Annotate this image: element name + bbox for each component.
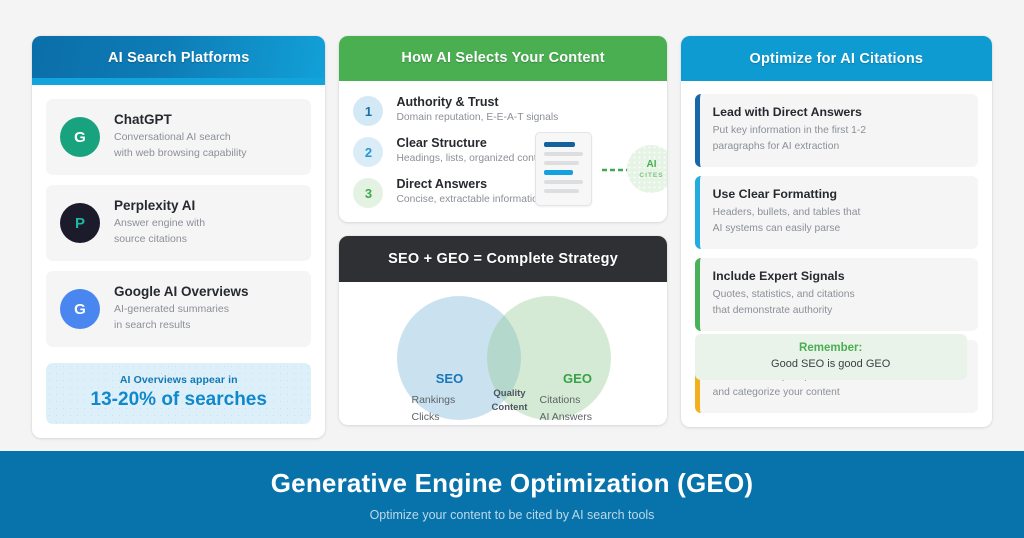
perplexity-name: Perplexity AI bbox=[114, 198, 205, 213]
google-avatar: G bbox=[60, 289, 100, 329]
list-item-step-1: 1 Authority & Trust Domain reputation, E… bbox=[353, 94, 652, 126]
tip-3-desc-line1: Quotes, statistics, and citations bbox=[713, 287, 965, 303]
venn-center-line1: Quality bbox=[479, 387, 539, 401]
venn-intersection-label: Quality Content bbox=[479, 387, 539, 415]
venn-geo-item-1: Citations bbox=[539, 392, 592, 409]
venn-diagram-container: SEO Rankings Clicks Traffic GEO Citation… bbox=[339, 282, 666, 425]
banner-subtitle: Optimize your content to be cited by AI … bbox=[370, 508, 655, 522]
step-3-desc: Concise, extractable information bbox=[396, 194, 543, 205]
panel-header-optimize-for-ai-citations: Optimize for AI Citations bbox=[681, 36, 992, 81]
column-how-ai-selects: How AI Selects Your Content 1 Authority … bbox=[339, 36, 666, 451]
chatgpt-avatar: G bbox=[60, 117, 100, 157]
venn-geo-item-2: AI Answers bbox=[539, 409, 592, 425]
steps-container: 1 Authority & Trust Domain reputation, E… bbox=[339, 81, 666, 222]
panel-how-ai-selects-content: How AI Selects Your Content 1 Authority … bbox=[339, 36, 666, 222]
tip-1-title: Lead with Direct Answers bbox=[713, 105, 965, 119]
tip-1-desc-line1: Put key information in the first 1-2 bbox=[713, 123, 965, 139]
tip-3-title: Include Expert Signals bbox=[713, 269, 965, 283]
panel-optimize-for-ai-citations: Optimize for AI Citations Lead with Dire… bbox=[681, 36, 992, 427]
venn-label-seo: SEO bbox=[409, 371, 489, 386]
google-name: Google AI Overviews bbox=[114, 284, 249, 299]
list-item-tip-clear-formatting[interactable]: Use Clear Formatting Headers, bullets, a… bbox=[695, 176, 978, 249]
chatgpt-name: ChatGPT bbox=[114, 112, 246, 127]
infographic-canvas: AI Search Platforms G ChatGPT Conversati… bbox=[0, 0, 1024, 538]
perplexity-desc-line1: Answer engine with bbox=[114, 216, 205, 232]
google-desc-line1: AI-generated summaries bbox=[114, 302, 249, 318]
stat-value: 13-20% of searches bbox=[56, 389, 301, 411]
list-item-chatgpt[interactable]: G ChatGPT Conversational AI search with … bbox=[46, 99, 311, 175]
venn-list-seo: Rankings Clicks Traffic bbox=[411, 392, 455, 425]
step-3-body: Direct Answers Concise, extractable info… bbox=[396, 176, 543, 205]
tip-2-desc-line1: Headers, bullets, and tables that bbox=[713, 205, 965, 221]
step-3-title: Direct Answers bbox=[396, 177, 543, 191]
venn-seo-item-1: Rankings bbox=[411, 392, 455, 409]
step-2-body: Clear Structure Headings, lists, organiz… bbox=[396, 135, 551, 164]
badge-ai-cites: AI CITES bbox=[627, 145, 666, 193]
chatgpt-text: ChatGPT Conversational AI search with we… bbox=[114, 112, 246, 162]
perplexity-desc-line2: source citations bbox=[114, 232, 205, 248]
step-1-body: Authority & Trust Domain reputation, E-E… bbox=[396, 94, 558, 123]
doc-gray-line-1 bbox=[544, 152, 583, 156]
step-2-number: 2 bbox=[353, 137, 383, 167]
bottom-banner: Generative Engine Optimization (GEO) Opt… bbox=[0, 451, 1024, 538]
badge-ai-cites-line2: CITES bbox=[639, 172, 663, 179]
doc-gray-line-2 bbox=[544, 161, 578, 165]
panel-header-ai-search-platforms: AI Search Platforms bbox=[32, 36, 325, 85]
chatgpt-desc-line2: with web browsing capability bbox=[114, 146, 246, 162]
list-item-tip-direct-answers[interactable]: Lead with Direct Answers Put key informa… bbox=[695, 94, 978, 167]
step-1-number: 1 bbox=[353, 96, 383, 126]
callout-remember-label: Remember: bbox=[705, 342, 957, 354]
perplexity-text: Perplexity AI Answer engine with source … bbox=[114, 198, 205, 248]
step-2-title: Clear Structure bbox=[396, 136, 551, 150]
venn-diagram: SEO Rankings Clicks Traffic GEO Citation… bbox=[339, 282, 666, 425]
tip-4-desc-line2: and categorize your content bbox=[713, 385, 965, 401]
column-optimize-for-citations: Optimize for AI Citations Lead with Dire… bbox=[681, 36, 992, 451]
stat-ai-overviews-share: AI Overviews appear in 13-20% of searche… bbox=[46, 363, 311, 424]
platform-list: G ChatGPT Conversational AI search with … bbox=[32, 85, 325, 361]
google-desc-line2: in search results bbox=[114, 318, 249, 334]
step-2-desc: Headings, lists, organized content bbox=[396, 153, 551, 164]
list-item-step-3: 3 Direct Answers Concise, extractable in… bbox=[353, 176, 652, 208]
list-item-perplexity[interactable]: P Perplexity AI Answer engine with sourc… bbox=[46, 185, 311, 261]
tip-2-desc-line2: AI systems can easily parse bbox=[713, 221, 965, 237]
doc-accent-line bbox=[544, 170, 572, 175]
tip-3-desc-line2: that demonstrate authority bbox=[713, 303, 965, 319]
panel-header-seo-geo-strategy: SEO + GEO = Complete Strategy bbox=[339, 236, 666, 282]
callout-remember-text: Good SEO is good GEO bbox=[705, 358, 957, 370]
venn-center-line2: Content bbox=[479, 401, 539, 415]
list-item-tip-expert-signals[interactable]: Include Expert Signals Quotes, statistic… bbox=[695, 258, 978, 331]
chatgpt-desc-line1: Conversational AI search bbox=[114, 130, 246, 146]
columns-container: AI Search Platforms G ChatGPT Conversati… bbox=[0, 0, 1024, 451]
google-text: Google AI Overviews AI-generated summari… bbox=[114, 284, 249, 334]
step-1-desc: Domain reputation, E-E-A-T signals bbox=[396, 112, 558, 123]
tips-list: Lead with Direct Answers Put key informa… bbox=[681, 81, 992, 427]
callout-remember: Remember: Good SEO is good GEO bbox=[695, 334, 967, 380]
panel-seo-geo-strategy: SEO + GEO = Complete Strategy SEO Rankin… bbox=[339, 236, 666, 425]
banner-title: Generative Engine Optimization (GEO) bbox=[271, 468, 754, 499]
step-3-number: 3 bbox=[353, 178, 383, 208]
venn-list-geo: Citations AI Answers Visibility bbox=[539, 392, 592, 425]
doc-gray-line-4 bbox=[544, 189, 578, 193]
column-ai-search-platforms: AI Search Platforms G ChatGPT Conversati… bbox=[32, 36, 325, 451]
badge-ai-cites-line1: AI bbox=[646, 159, 656, 170]
doc-gray-line-3 bbox=[544, 180, 583, 184]
venn-label-geo: GEO bbox=[537, 371, 617, 386]
panel-ai-search-platforms: AI Search Platforms G ChatGPT Conversati… bbox=[32, 36, 325, 438]
list-item-google-ai-overviews[interactable]: G Google AI Overviews AI-generated summa… bbox=[46, 271, 311, 347]
list-item-step-2: 2 Clear Structure Headings, lists, organ… bbox=[353, 135, 652, 167]
tip-1-desc-line2: paragraphs for AI extraction bbox=[713, 139, 965, 155]
tip-2-title: Use Clear Formatting bbox=[713, 187, 965, 201]
steps-list: 1 Authority & Trust Domain reputation, E… bbox=[353, 94, 652, 208]
stat-label: AI Overviews appear in bbox=[56, 374, 301, 386]
step-1-title: Authority & Trust bbox=[396, 95, 558, 109]
panel-header-how-ai-selects: How AI Selects Your Content bbox=[339, 36, 666, 81]
perplexity-avatar: P bbox=[60, 203, 100, 243]
venn-seo-item-2: Clicks bbox=[411, 409, 455, 425]
document-mockup-icon bbox=[535, 132, 592, 206]
doc-title-line bbox=[544, 142, 574, 147]
